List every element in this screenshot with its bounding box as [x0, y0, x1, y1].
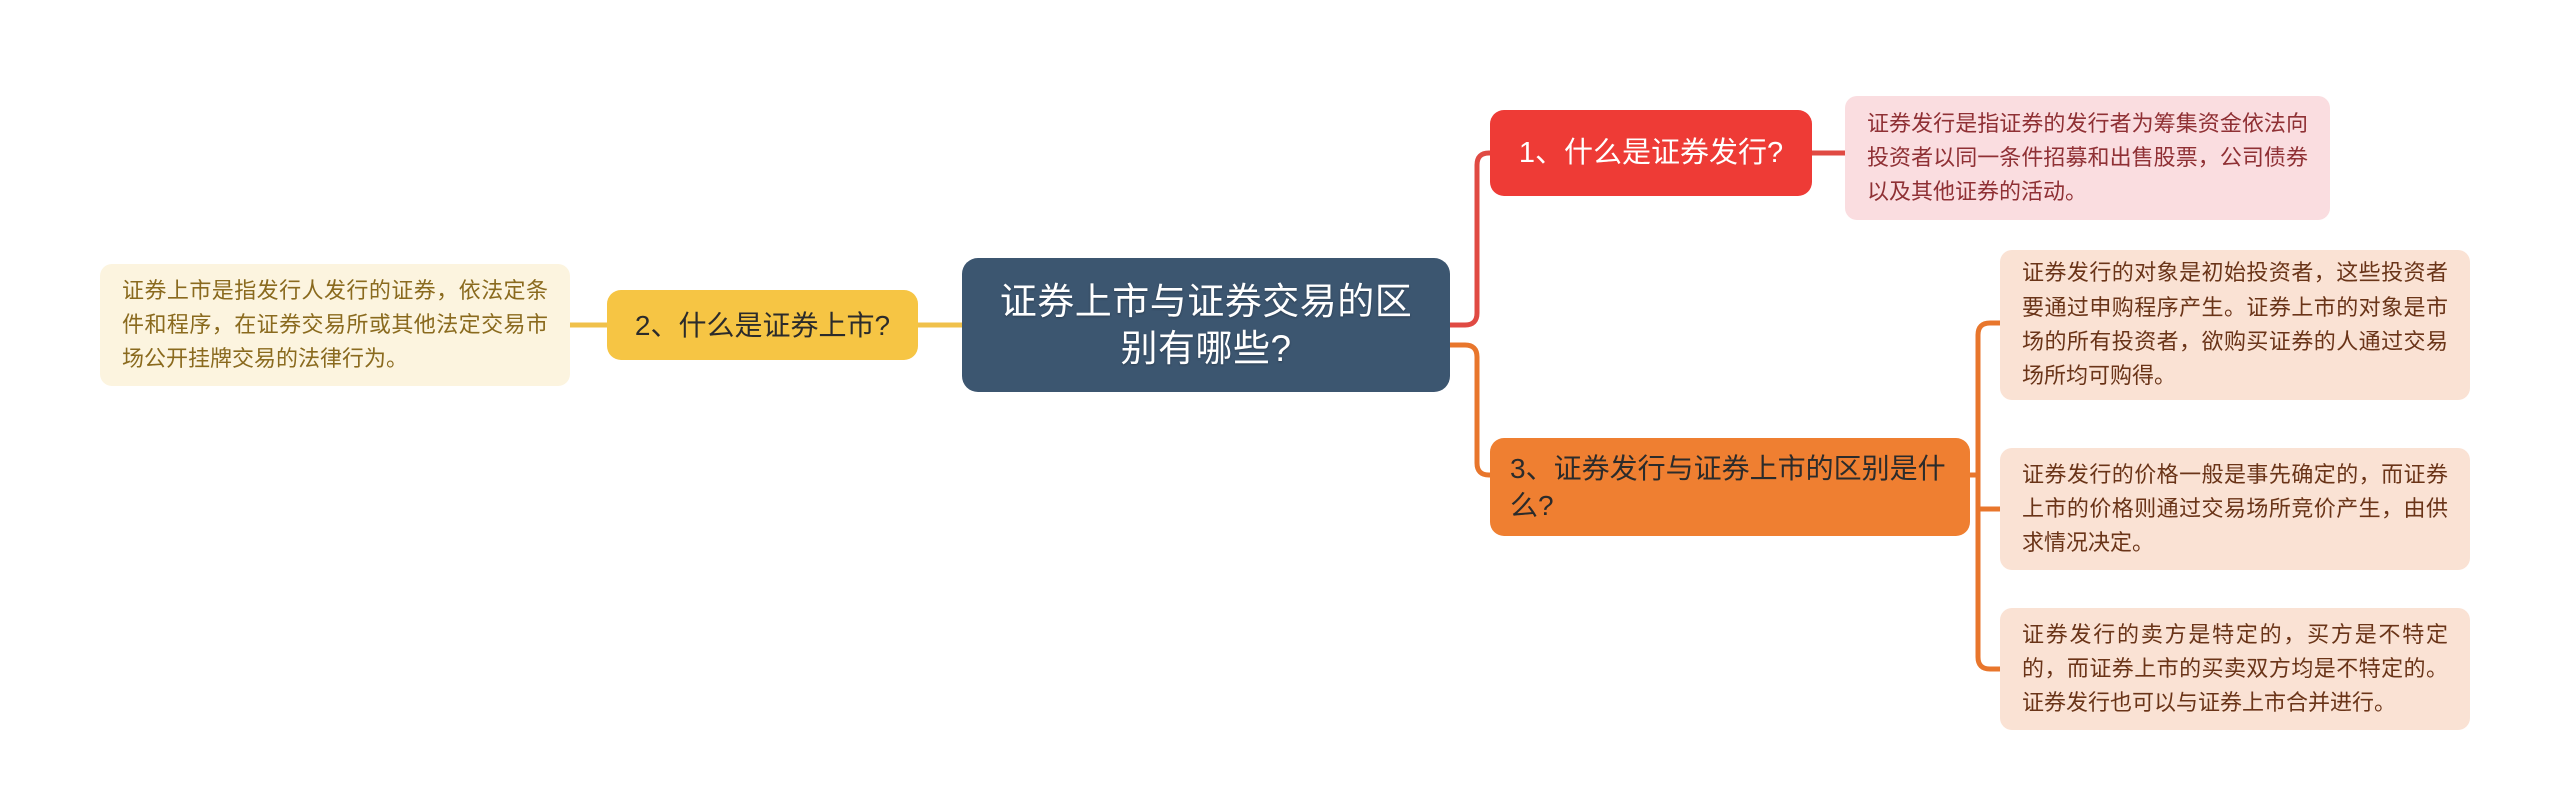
leaf-node-3-1-text: 证券发行的对象是初始投资者，这些投资者要通过申购程序产生。证券上市的对象是市场的… [2022, 256, 2448, 393]
connector-root-to-branch-3 [1450, 345, 1490, 475]
leaf-node-3-3-text: 证券发行的卖方是特定的，买方是不特定的，而证券上市的买卖双方均是不特定的。证券发… [2022, 618, 2448, 721]
leaf-node-2-1-text: 证券上市是指发行人发行的证券，依法定条件和程序，在证券交易所或其他法定交易市场公… [122, 274, 548, 377]
branch-node-1-label: 1、什么是证券发行? [1519, 135, 1783, 171]
branch-node-2-label: 2、什么是证券上市? [635, 308, 890, 343]
branch-node-1[interactable]: 1、什么是证券发行? [1490, 110, 1812, 196]
root-node[interactable]: 证券上市与证券交易的区别有哪些? [962, 258, 1450, 392]
branch-node-3[interactable]: 3、证券发行与证券上市的区别是什么? [1490, 438, 1970, 536]
leaf-node-3-3[interactable]: 证券发行的卖方是特定的，买方是不特定的，而证券上市的买卖双方均是不特定的。证券发… [2000, 608, 2470, 730]
branch-node-2[interactable]: 2、什么是证券上市? [607, 290, 918, 360]
connector-branch-3-to-leaf-2 [1978, 475, 2000, 509]
connector-root-to-branch-1 [1450, 153, 1490, 325]
connector-branch-3-to-leaf-1 [1978, 323, 2000, 475]
leaf-node-2-1[interactable]: 证券上市是指发行人发行的证券，依法定条件和程序，在证券交易所或其他法定交易市场公… [100, 264, 570, 386]
branch-node-3-label: 3、证券发行与证券上市的区别是什么? [1510, 450, 1956, 524]
leaf-node-3-1[interactable]: 证券发行的对象是初始投资者，这些投资者要通过申购程序产生。证券上市的对象是市场的… [2000, 250, 2470, 400]
leaf-node-3-2[interactable]: 证券发行的价格一般是事先确定的，而证券上市的价格则通过交易场所竞价产生，由供求情… [2000, 448, 2470, 570]
leaf-node-3-2-text: 证券发行的价格一般是事先确定的，而证券上市的价格则通过交易场所竞价产生，由供求情… [2022, 458, 2448, 561]
root-node-label: 证券上市与证券交易的区别有哪些? [988, 278, 1424, 373]
mindmap-canvas: 证券上市与证券交易的区别有哪些? 1、什么是证券发行? 证券发行是指证券的发行者… [0, 0, 2560, 794]
leaf-node-1-1[interactable]: 证券发行是指证券的发行者为筹集资金依法向投资者以同一条件招募和出售股票，公司债券… [1845, 96, 2330, 220]
leaf-node-1-1-text: 证券发行是指证券的发行者为筹集资金依法向投资者以同一条件招募和出售股票，公司债券… [1867, 107, 2308, 210]
connector-branch-3-to-leaf-3 [1978, 475, 2000, 669]
